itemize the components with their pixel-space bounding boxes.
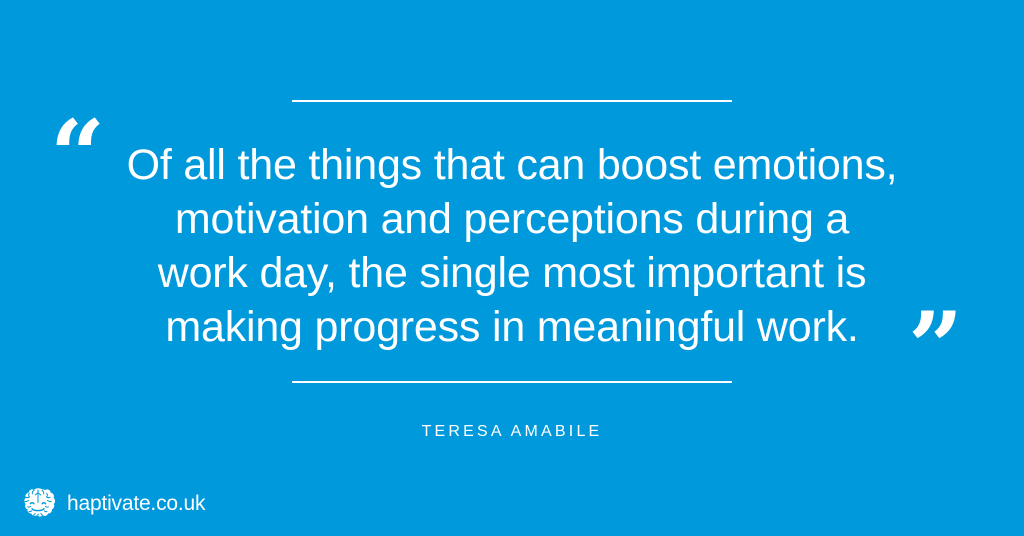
divider-bottom: [292, 381, 732, 383]
quote-open-icon: “: [50, 108, 105, 204]
divider-top: [292, 100, 732, 102]
quote-line: Of all the things that can boost emotion…: [112, 138, 912, 192]
quote-attribution: TERESA AMABILE: [0, 423, 1024, 441]
quote-line: making progress in meaningful work.: [112, 300, 912, 354]
quote-close-icon: ”: [908, 300, 963, 396]
quote-line: work day, the single most important is: [112, 246, 912, 300]
quote-text-block: Of all the things that can boost emotion…: [112, 138, 912, 354]
quote-line: motivation and perceptions during a: [112, 192, 912, 246]
quote-card: “ Of all the things that can boost emoti…: [0, 0, 1024, 536]
brand-footer: haptivate.co.uk: [20, 486, 205, 522]
brand-website-label: haptivate.co.uk: [67, 492, 205, 516]
brain-smiling-logo-icon: [20, 486, 56, 522]
